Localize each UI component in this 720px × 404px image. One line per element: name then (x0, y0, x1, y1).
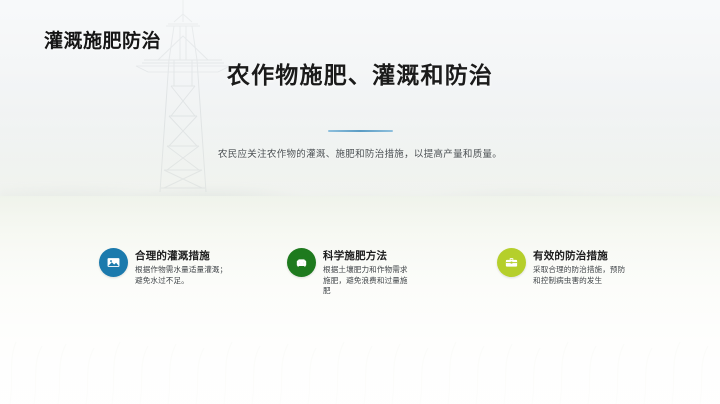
armchair-icon (294, 255, 309, 270)
feature-card-pest-control: 有效的防治措施 采取合理的防治措施，预防和控制病虫害的发生 (497, 248, 647, 286)
image-icon (106, 255, 121, 270)
feature-card-irrigation: 合理的灌溉措施 根据作物需水量适量灌溉；避免水过不足。 (99, 248, 249, 286)
feature-card-title: 合理的灌溉措施 (135, 249, 231, 263)
image-icon-badge (99, 248, 128, 277)
feature-card-title: 科学施肥方法 (323, 249, 415, 263)
feature-card-text: 有效的防治措施 采取合理的防治措施，预防和控制病虫害的发生 (533, 248, 633, 286)
feature-card-text: 科学施肥方法 根据土壤肥力和作物需求施肥，避免浪费和过量施肥 (323, 248, 415, 297)
armchair-icon-badge (287, 248, 316, 277)
feature-card-fertilization: 科学施肥方法 根据土壤肥力和作物需求施肥，避免浪费和过量施肥 (287, 248, 437, 297)
presentation-slide: 灌溉施肥防治 农作物施肥、灌溉和防治 农民应关注农作物的灌溉、施肥和防治措施，以… (0, 0, 720, 404)
page-title: 农作物施肥、灌溉和防治 (0, 56, 720, 90)
feature-card-desc: 采取合理的防治措施，预防和控制病虫害的发生 (533, 265, 633, 286)
slide-subtitle: 农民应关注农作物的灌溉、施肥和防治措施，以提高产量和质量。 (0, 146, 720, 160)
feature-card-text: 合理的灌溉措施 根据作物需水量适量灌溉；避免水过不足。 (135, 248, 231, 286)
feature-card-list: 合理的灌溉措施 根据作物需水量适量灌溉；避免水过不足。 科学施肥方法 根据土壤肥… (0, 248, 720, 338)
title-divider (328, 130, 393, 132)
briefcase-icon-badge (497, 248, 526, 277)
feature-card-title: 有效的防治措施 (533, 249, 633, 263)
feature-card-desc: 根据作物需水量适量灌溉；避免水过不足。 (135, 265, 231, 286)
feature-card-desc: 根据土壤肥力和作物需求施肥，避免浪费和过量施肥 (323, 265, 415, 297)
briefcase-icon (504, 255, 519, 270)
slide-kicker: 灌溉施肥防治 (44, 26, 161, 53)
